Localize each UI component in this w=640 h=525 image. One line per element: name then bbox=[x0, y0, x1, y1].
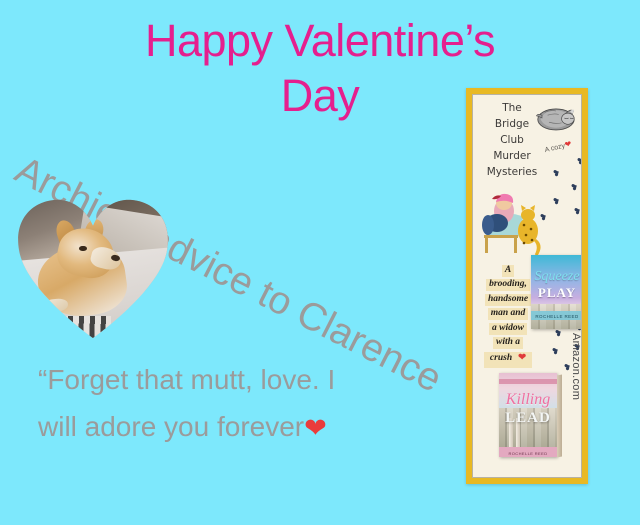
book-author: ROCHELLE REED bbox=[499, 451, 557, 456]
sleeping-cat-icon bbox=[535, 104, 577, 132]
blurb-line-3: man and bbox=[488, 308, 529, 320]
blurb-line-6: crush bbox=[487, 353, 515, 365]
book-series-bookmark[interactable]: The Bridge Club Murder Mysteries bbox=[466, 88, 588, 484]
cozy-heart-icon: ❤ bbox=[563, 139, 572, 149]
blurb-heart-icon: ❤ bbox=[515, 353, 529, 365]
book-title-bold: PLAY bbox=[531, 286, 582, 299]
book-face: Killing LEAD ROCHELLE REED bbox=[499, 373, 557, 457]
book-top-bar bbox=[499, 379, 557, 384]
flying-heart-icon: ❥ bbox=[569, 182, 580, 193]
retailer-label[interactable]: Amazon.com bbox=[570, 333, 582, 400]
woman-in-chair-illustration bbox=[478, 187, 550, 259]
blurb-line-1: brooding, bbox=[486, 279, 530, 291]
quote-line-2-wrapper: will adore you forever❤ bbox=[38, 403, 458, 451]
book-spine bbox=[557, 374, 562, 457]
headline-line-1: Happy Valentine’s bbox=[0, 14, 640, 69]
blurb-line-2: handsome bbox=[485, 294, 531, 306]
bookmark-inner: The Bridge Club Murder Mysteries bbox=[472, 94, 582, 478]
blurb-line-0: A bbox=[502, 265, 514, 277]
quote-line-2: will adore you forever bbox=[38, 411, 304, 442]
book-title-script: Squeeze bbox=[531, 270, 582, 284]
photo-blanket-stripes bbox=[57, 316, 112, 338]
flying-heart-icon: ❥ bbox=[575, 156, 582, 167]
quote-line-1: “Forget that mutt, love. I bbox=[38, 356, 458, 403]
book-cover-killing-lead[interactable]: Killing LEAD ROCHELLE REED bbox=[499, 373, 557, 457]
blurb-line-4: a widow bbox=[489, 323, 527, 335]
book-title-bold: LEAD bbox=[499, 411, 557, 426]
flying-heart-icon: ❥ bbox=[572, 206, 582, 217]
flying-heart-icon: ❥ bbox=[551, 196, 562, 207]
book-author: ROCHELLE REED bbox=[531, 314, 582, 319]
book-cover-squeeze-play[interactable]: Squeeze PLAY ROCHELLE REED bbox=[531, 255, 582, 329]
cozy-label: A cozy❤ bbox=[543, 139, 572, 154]
series-title-line-4: Mysteries bbox=[479, 165, 545, 181]
flying-heart-icon: ❥ bbox=[551, 168, 562, 179]
cozy-label-text: A cozy bbox=[544, 143, 566, 154]
series-blurb: A brooding, handsome man and a widow wit… bbox=[480, 265, 536, 371]
blurb-line-5: with a bbox=[493, 337, 523, 349]
series-title-line-2: Club bbox=[479, 133, 545, 149]
quote-text: “Forget that mutt, love. I will adore yo… bbox=[38, 356, 458, 451]
blurb-line-6-wrapper: crush❤ bbox=[484, 352, 532, 368]
book-face: Squeeze PLAY ROCHELLE REED bbox=[531, 255, 582, 329]
series-title-line-3: Murder bbox=[479, 149, 545, 165]
book-title-script: Killing bbox=[499, 392, 557, 408]
flying-heart-icon: ❥ bbox=[550, 346, 561, 357]
valentines-card: Happy Valentine’s Day Archie’s advice to… bbox=[0, 0, 640, 525]
dog-eye bbox=[79, 246, 87, 252]
heart-icon: ❤ bbox=[304, 413, 327, 443]
flying-heart-icon: ❥ bbox=[553, 328, 564, 339]
